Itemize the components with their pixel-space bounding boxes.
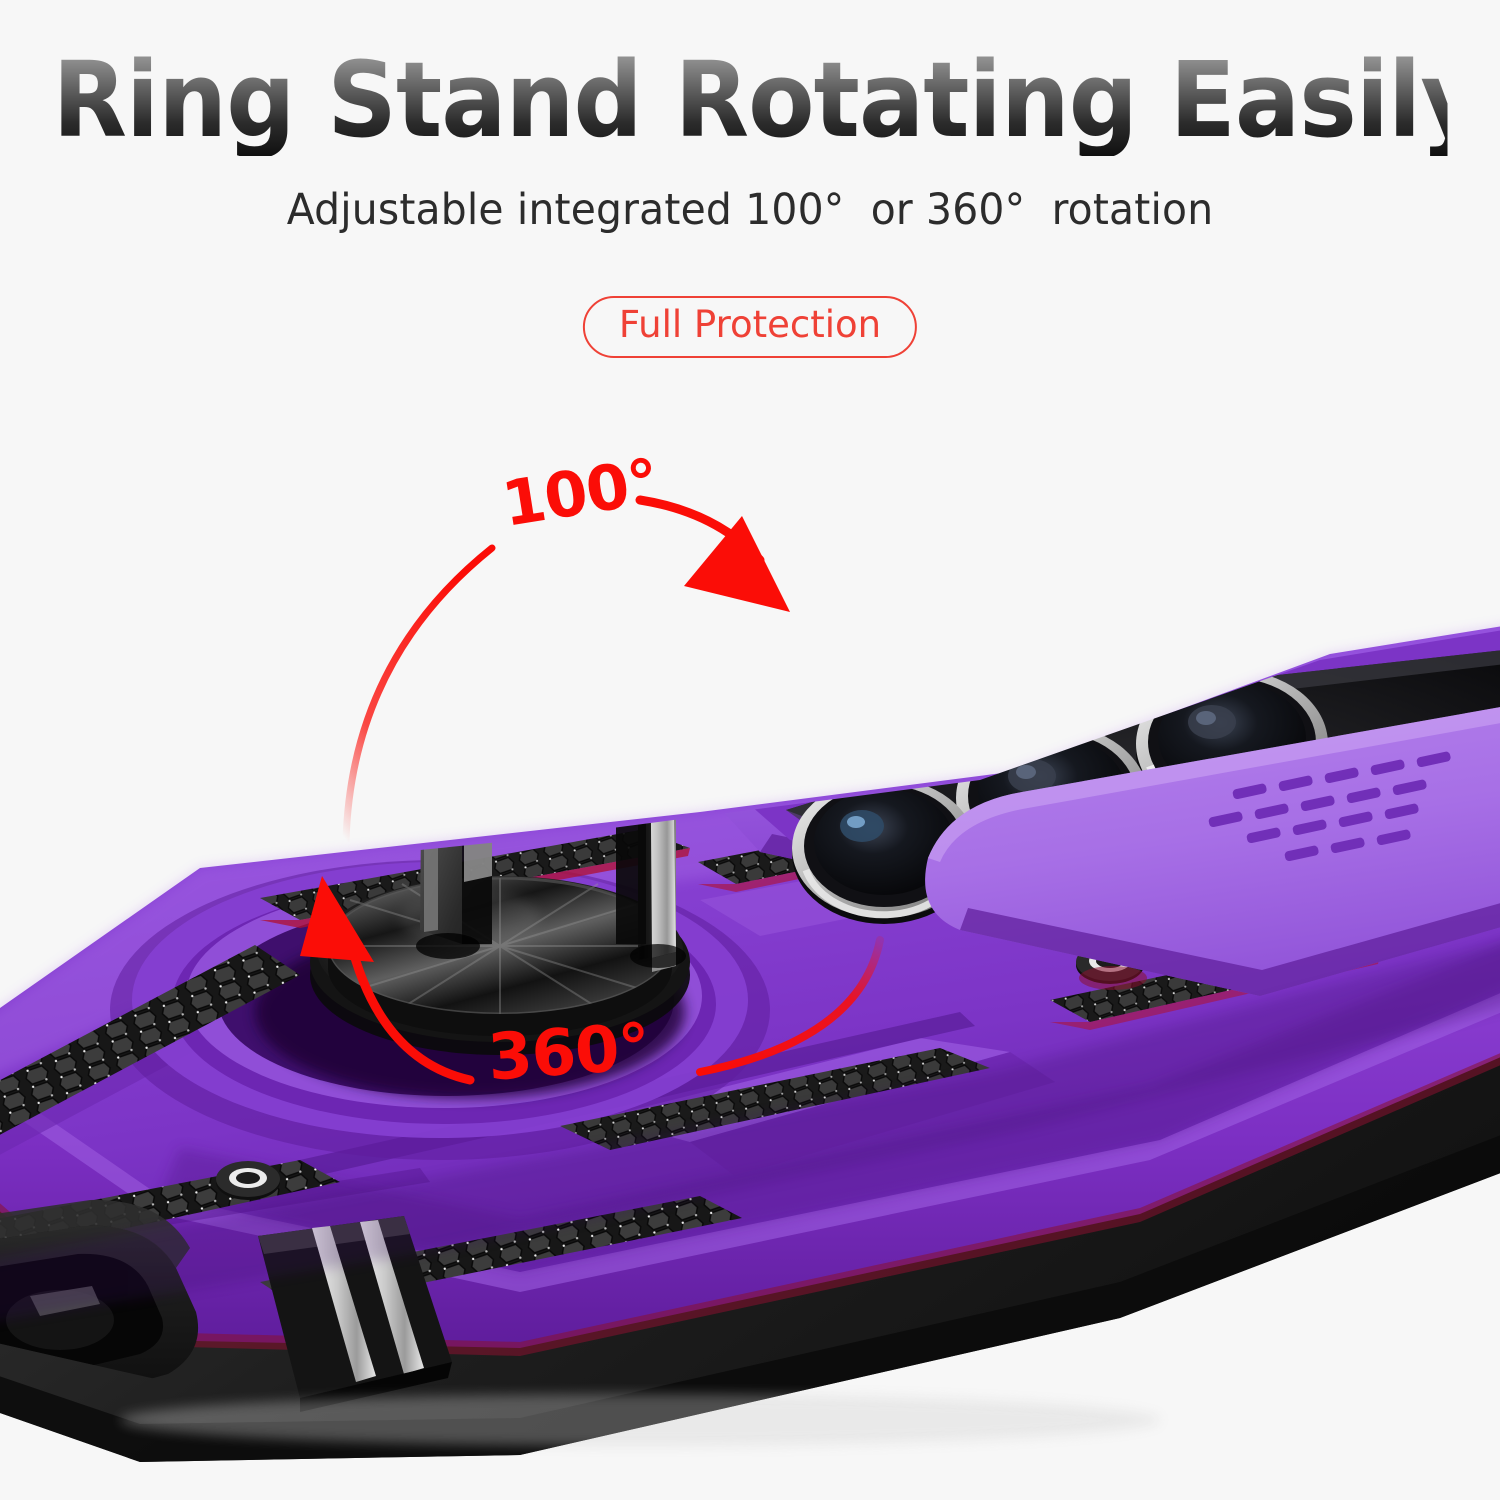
kickstand-ring-assembly	[310, 548, 690, 1055]
spin-angle-label: 360°	[486, 1010, 652, 1095]
phone-case-illustration	[0, 0, 1500, 1500]
product-marketing-image: Ring Stand Rotating Easily Adjustable in…	[0, 0, 1500, 1500]
